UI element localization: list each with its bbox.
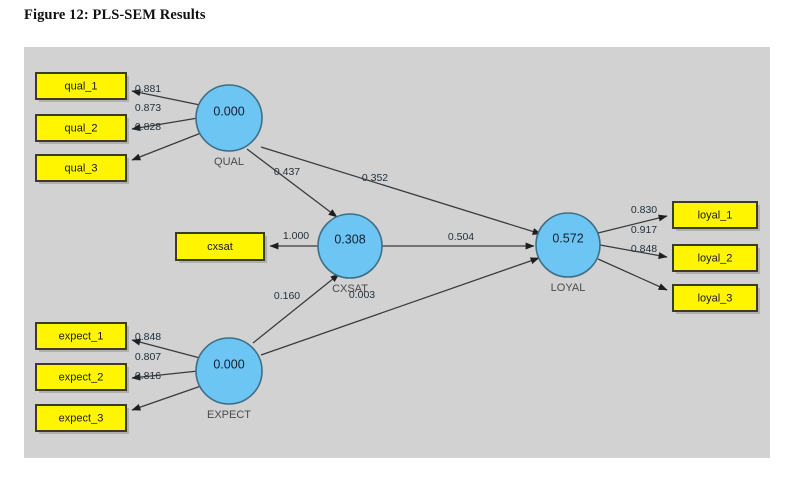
coefficient-label-cxsat-cxsat: 1.000 [283,230,309,242]
indicator-label: expect_2 [59,371,104,383]
path-arrow-qual-to-qual_3[interactable] [132,133,201,160]
indicator-label: loyal_3 [698,292,733,304]
construct-name-label: EXPECT [207,409,251,421]
coefficient-label-loyal-loyal_1: 0.830 [631,204,657,216]
indicator-qual_2[interactable]: qual_2 [36,115,129,144]
construct-name-label: LOYAL [551,282,586,294]
coefficient-label-expect-loyal: 0.003 [349,289,375,301]
path-diagram-svg: qual_1qual_2qual_3cxsatexpect_1expect_2e… [24,47,770,458]
coefficient-label-qual-cxsat: 0.437 [274,166,300,178]
indicator-qual_3[interactable]: qual_3 [36,155,129,184]
indicator-label: qual_1 [64,80,97,92]
indicator-cxsat[interactable]: cxsat [176,233,267,263]
indicator-loyal_1[interactable]: loyal_1 [673,202,760,231]
construct-r2-value: 0.308 [334,232,365,246]
construct-qual[interactable]: 0.000QUAL [196,85,262,168]
path-arrow-expect-to-expect_3[interactable] [132,386,201,410]
coefficient-label-qual-qual_1: 0.881 [135,83,161,95]
indicator-label: qual_2 [64,122,97,134]
coefficient-label-expect-cxsat: 0.160 [274,290,300,302]
path-arrow-expect-to-loyal[interactable] [261,258,539,355]
path-arrow-qual-to-loyal[interactable] [261,147,541,234]
construct-r2-value: 0.000 [213,357,244,371]
coefficient-label-loyal-loyal_2: 0.917 [631,224,657,236]
figure-container: Figure 12: PLS-SEM Results qual_1qual_2q… [0,0,800,478]
coefficient-label-qual-qual_2: 0.873 [135,102,161,114]
indicator-qual_1[interactable]: qual_1 [36,73,129,102]
indicator-expect_3[interactable]: expect_3 [36,405,129,434]
coefficient-label-expect-expect_3: 0.816 [135,370,161,382]
indicator-label: qual_3 [64,162,97,174]
construct-name-label: QUAL [214,156,244,168]
coefficient-label-cxsat-loyal: 0.504 [448,231,474,243]
indicator-label: expect_1 [59,330,104,342]
path-arrow-loyal-to-loyal_3[interactable] [598,259,667,290]
indicator-expect_2[interactable]: expect_2 [36,364,129,393]
construct-r2-value: 0.000 [213,104,244,118]
indicator-label: loyal_2 [698,252,733,264]
coefficient-label-expect-expect_2: 0.807 [135,351,161,363]
construct-r2-value: 0.572 [552,231,583,245]
indicator-expect_1[interactable]: expect_1 [36,323,129,352]
indicator-loyal_2[interactable]: loyal_2 [673,245,760,274]
coefficient-label-expect-expect_1: 0.848 [135,331,161,343]
coefficient-label-qual-qual_3: 0.828 [135,121,161,133]
path-arrow-qual-to-cxsat[interactable] [247,149,337,217]
coefficient-label-loyal-loyal_3: 0.848 [631,243,657,255]
figure-caption: Figure 12: PLS-SEM Results [24,7,206,24]
coefficient-label-qual-loyal: 0.352 [362,172,388,184]
construct-loyal[interactable]: 0.572LOYAL [536,213,600,294]
indicator-loyal_3[interactable]: loyal_3 [673,285,760,314]
indicator-label: cxsat [207,241,233,253]
construct-expect[interactable]: 0.000EXPECT [196,338,262,421]
pls-sem-diagram-canvas[interactable]: qual_1qual_2qual_3cxsatexpect_1expect_2e… [24,47,770,458]
indicator-label: expect_3 [59,412,104,424]
indicator-label: loyal_1 [698,209,733,221]
